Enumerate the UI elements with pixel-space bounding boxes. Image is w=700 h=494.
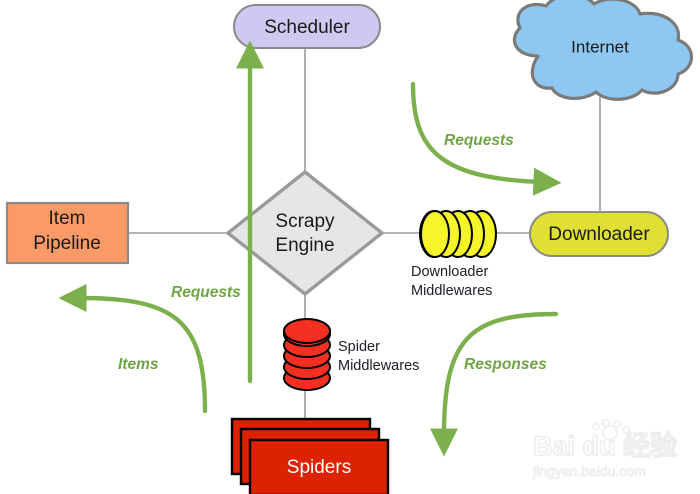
flow-label-responses-to-spiders: Responses [464,356,547,373]
item-pipeline-label-line1: Item [49,208,86,229]
node-scheduler[interactable]: Scheduler [234,5,380,48]
scheduler-label: Scheduler [264,17,350,38]
spider-mw-ellipse-stack [284,319,330,390]
downloader-label: Downloader [548,224,650,245]
engine-label-line2: Engine [275,235,334,256]
flow-label-requests-to-scheduler: Requests [171,284,241,301]
node-spiders[interactable]: Spiders [232,419,388,494]
spiders-label: Spiders [287,457,351,478]
node-internet[interactable]: Internet [514,0,691,99]
spider-mw-label-line1: Spider [338,339,380,355]
watermark-brand: Bai du 经验 [533,430,677,461]
watermark: Bai du 经验 jingyan.baidu.com [532,420,677,479]
scrapy-architecture-diagram: Internet Scheduler Item Pipeline Scrapy … [0,0,700,494]
downloader-mw-label-line1: Downloader [411,264,489,280]
node-item-pipeline[interactable]: Item Pipeline [7,203,128,263]
flow-label-items-to-pipeline: Items [118,356,159,373]
engine-label-line1: Scrapy [275,211,335,232]
flow-label-requests-to-internet: Requests [444,132,514,149]
node-spider-middlewares[interactable]: Spider Middlewares [284,319,419,390]
flow-arrow-items-to-pipeline [80,298,205,411]
downloader-mw-label-line2: Middlewares [411,283,492,299]
flow-arrow-responses-to-spiders [444,314,556,435]
downloader-mw-ellipse-stack [420,211,496,257]
spider-mw-label-line2: Middlewares [338,358,419,374]
internet-label: Internet [571,37,629,56]
watermark-url: jingyan.baidu.com [532,463,646,479]
item-pipeline-label-line2: Pipeline [33,233,101,254]
node-downloader-middlewares[interactable]: Downloader Middlewares [411,211,496,299]
node-downloader[interactable]: Downloader [530,212,668,256]
